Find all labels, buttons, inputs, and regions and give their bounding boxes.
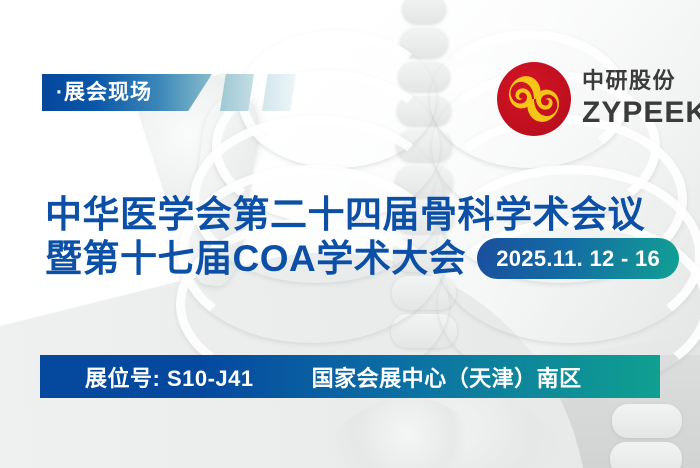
scene-tag: ·展会现场 bbox=[42, 74, 212, 111]
vertebra bbox=[612, 404, 682, 438]
headline-line-2-text: 暨第十七届COA学术大会 bbox=[45, 237, 466, 281]
brand-logo: 中研股份 ZYPEEK bbox=[497, 62, 700, 136]
headline-line-1: 中华医学会第二十四届骨科学术会议 bbox=[45, 193, 679, 237]
tag-accent-stripe-1 bbox=[220, 74, 254, 111]
brand-name-cn: 中研股份 bbox=[582, 70, 700, 92]
scene-tag-label: ·展会现场 bbox=[42, 82, 152, 103]
venue-name: 国家会展中心（天津）南区 bbox=[312, 361, 582, 393]
event-date-badge: 2025.11. 12 - 16 bbox=[477, 238, 679, 279]
event-info-bar: 展位号: S10-J41 国家会展中心（天津）南区 bbox=[40, 355, 660, 398]
vertebra bbox=[402, 0, 446, 24]
tag-accent-stripe-2 bbox=[262, 74, 296, 111]
scene-tag-shape: ·展会现场 bbox=[42, 74, 212, 111]
brand-logo-text: 中研股份 ZYPEEK bbox=[582, 70, 700, 128]
brand-name-en: ZYPEEK bbox=[582, 98, 700, 128]
exhibition-banner: ·展会现场 中研股份 ZYPEEK 中华医学会第二十四届骨科学术会议 暨第十七届… bbox=[0, 0, 700, 468]
vertebra bbox=[610, 442, 682, 468]
booth-number: 展位号: S10-J41 bbox=[85, 361, 254, 393]
headline-line-2: 暨第十七届COA学术大会 2025.11. 12 - 16 bbox=[45, 237, 679, 281]
event-headline: 中华医学会第二十四届骨科学术会议 暨第十七届COA学术大会 2025.11. 1… bbox=[45, 193, 679, 280]
zypeek-swirl-icon bbox=[497, 62, 571, 136]
headline-line-1-text: 中华医学会第二十四届骨科学术会议 bbox=[45, 193, 645, 237]
